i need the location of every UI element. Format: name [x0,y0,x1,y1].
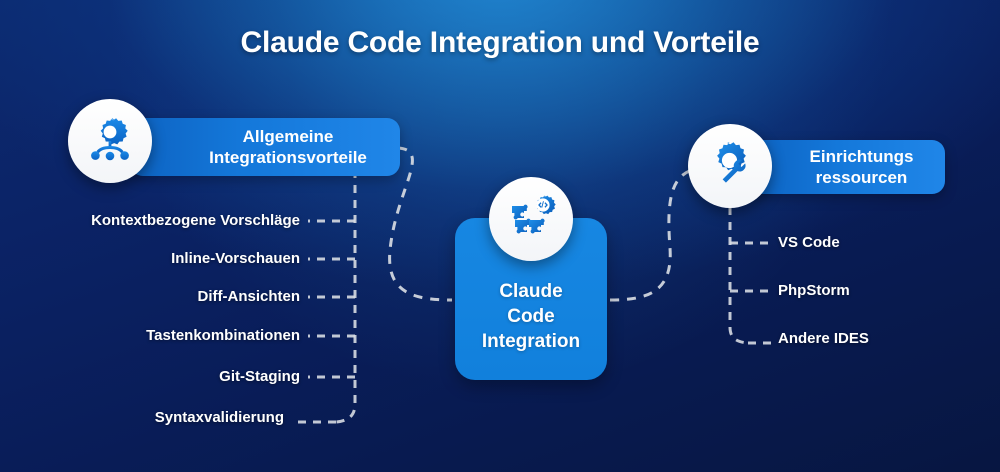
left-branch-header[interactable]: Allgemeine Integrationsvorteile [130,118,400,176]
center-label-line2: Code [507,306,555,327]
center-label-line1: Claude [499,281,562,302]
list-item[interactable]: VS Code [778,234,840,251]
list-item[interactable]: Diff-Ansichten [0,288,300,305]
list-item[interactable]: PhpStorm [778,282,850,299]
wire-left-spine [336,155,355,422]
list-item[interactable]: Syntaxvalidierung [0,409,284,426]
gear-network-icon [68,99,152,183]
right-header-line2: ressourcen [810,167,914,188]
list-item[interactable]: Andere IDES [778,330,869,347]
center-label-line3: Integration [482,331,580,352]
gear-wrench-icon [688,124,772,208]
wire-right-spine [730,207,748,343]
list-item[interactable]: Git-Staging [0,368,300,385]
list-item[interactable]: Tastenkombinationen [0,327,300,344]
puzzle-gear-code-icon [489,177,573,261]
left-header-line1: Allgemeine [209,126,367,147]
list-item[interactable]: Kontextbezogene Vorschläge [0,212,300,229]
list-item[interactable]: Inline-Vorschauen [0,250,300,267]
wire-left-to-center [390,148,452,300]
page-title: Claude Code Integration und Vorteile [0,26,1000,60]
center-node-label: Claude Code Integration [482,279,580,354]
left-header-line2: Integrationsvorteile [209,147,367,168]
right-branch-header[interactable]: Einrichtungs ressourcen [750,140,945,194]
right-header-line1: Einrichtungs [810,146,914,167]
wire-center-to-right [610,168,700,300]
infographic-canvas: Claude Code Integration und Vorteile All… [0,0,1000,472]
